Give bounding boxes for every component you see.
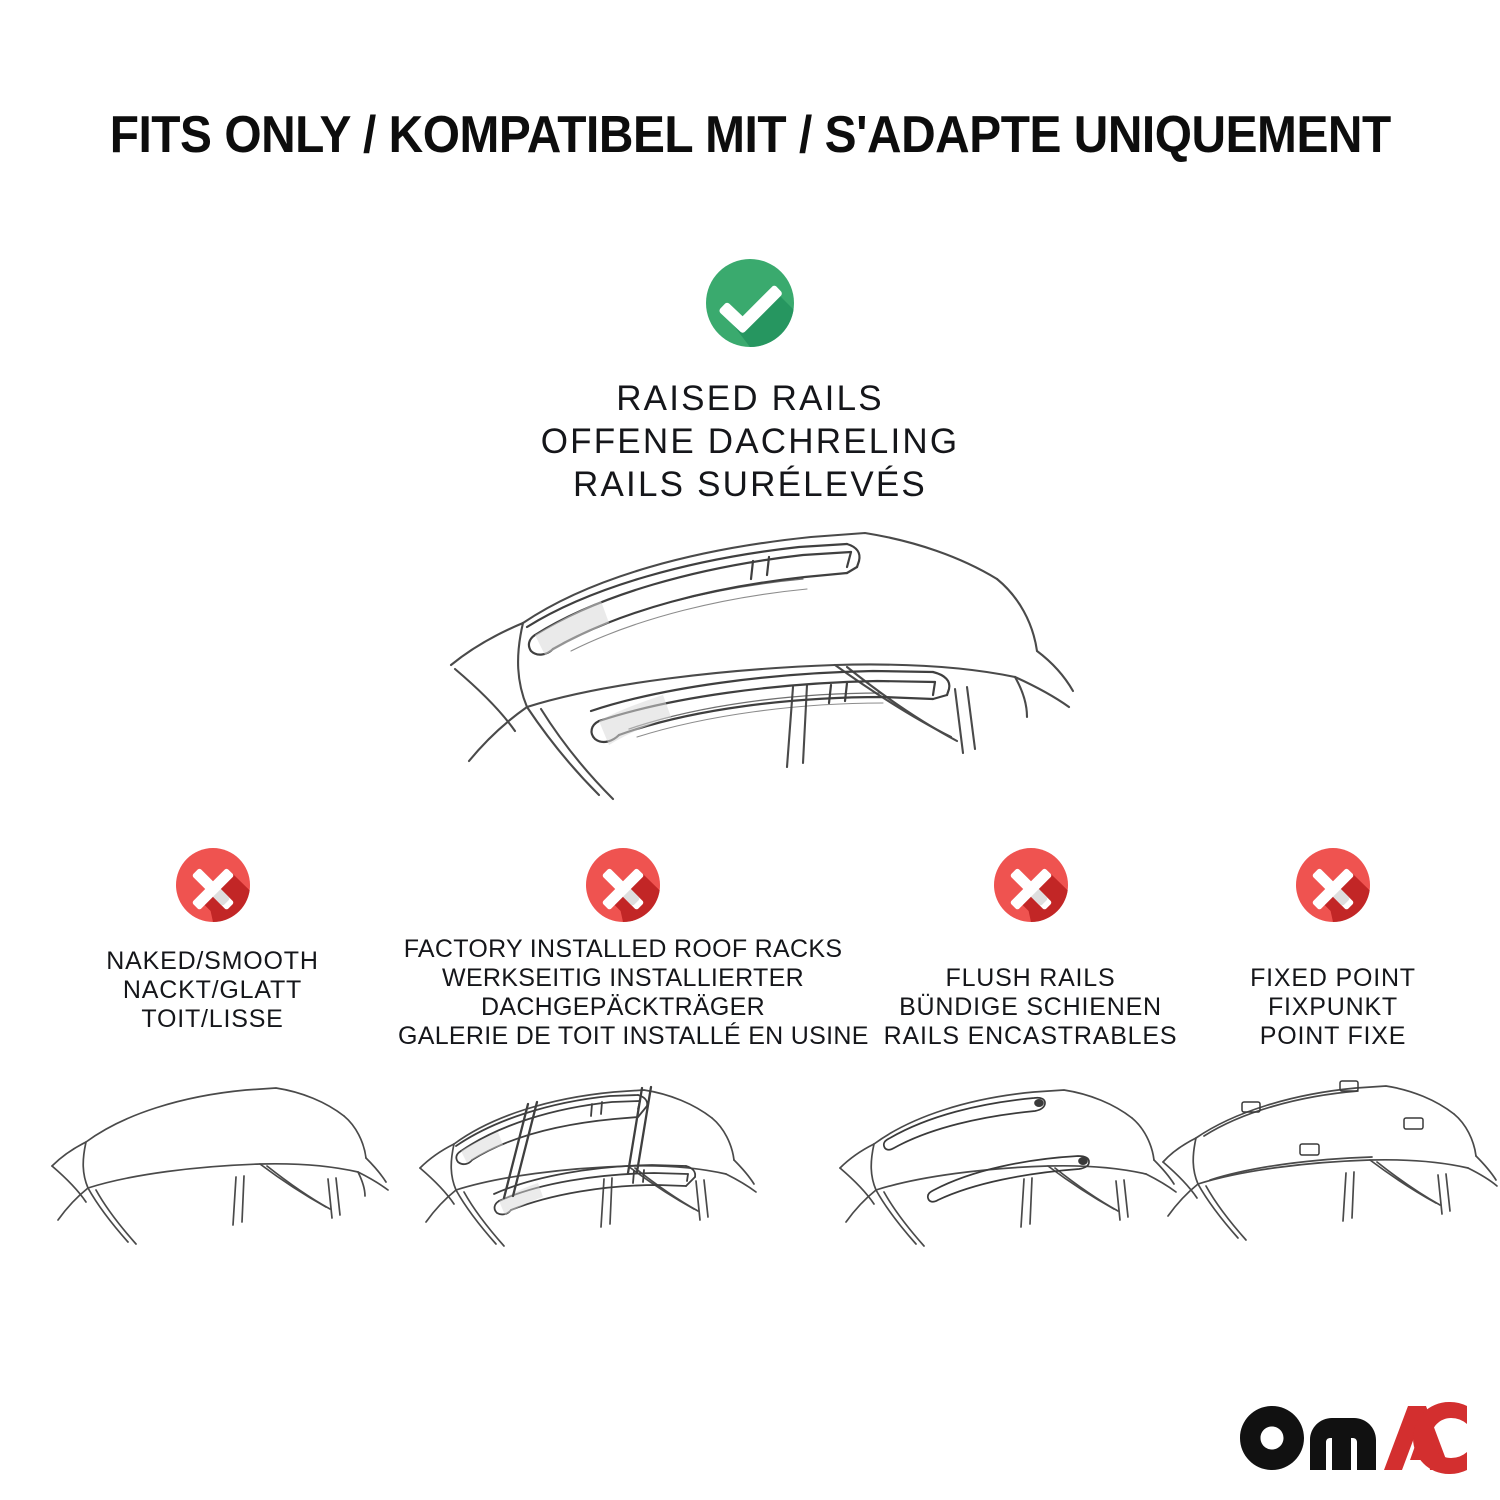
car-roof-factory-racks-illustration <box>410 1070 780 1300</box>
compatible-label-de: OFFENE DACHRELING <box>0 420 1500 463</box>
label-en: FLUSH RAILS <box>868 964 1193 993</box>
car-roof-fixed-point-illustration <box>1160 1070 1500 1300</box>
incompatible-item-factory-roof-racks: FACTORY INSTALLED ROOF RACKS WERKSEITIG … <box>398 845 848 1051</box>
incompatible-item-flush-rails: FLUSH RAILS BÜNDIGE SCHIENEN RAILS ENCAS… <box>868 845 1193 1051</box>
page-title: FITS ONLY / KOMPATIBEL MIT / S'ADAPTE UN… <box>109 105 1390 165</box>
omac-logo <box>1238 1402 1468 1474</box>
incompatible-labels-factory-roof-racks: FACTORY INSTALLED ROOF RACKS WERKSEITIG … <box>398 935 848 1051</box>
incompatible-labels-fixed-point: FIXED POINT FIXPUNKT POINT FIXE <box>1208 964 1458 1051</box>
label-de-2: DACHGEPÄCKTRÄGER <box>398 993 848 1022</box>
label-de-1: WERKSEITIG INSTALLIERTER <box>398 964 848 993</box>
incompatible-item-fixed-point: FIXED POINT FIXPUNKT POINT FIXE <box>1208 845 1458 1051</box>
label-en: FACTORY INSTALLED ROOF RACKS <box>398 935 848 964</box>
label-de: BÜNDIGE SCHIENEN <box>868 993 1193 1022</box>
x-circle-icon <box>991 845 1071 925</box>
car-roof-naked-smooth-illustration <box>48 1070 408 1300</box>
compatible-label-fr: RAILS SURÉLEVÉS <box>0 463 1500 506</box>
label-en: FIXED POINT <box>1208 964 1458 993</box>
compatible-label-en: RAISED RAILS <box>0 377 1500 420</box>
incompatible-labels-flush-rails: FLUSH RAILS BÜNDIGE SCHIENEN RAILS ENCAS… <box>868 964 1193 1051</box>
label-en: NAKED/SMOOTH <box>60 947 365 976</box>
label-de: FIXPUNKT <box>1208 993 1458 1022</box>
x-circle-icon <box>583 845 663 925</box>
label-fr: GALERIE DE TOIT INSTALLÉ EN USINE <box>398 1022 848 1051</box>
label-fr: RAILS ENCASTRABLES <box>868 1022 1193 1051</box>
label-de: NACKT/GLATT <box>60 976 365 1005</box>
car-roof-raised-rails-illustration <box>395 505 1105 835</box>
check-circle-icon <box>702 255 798 351</box>
compatible-labels: RAISED RAILS OFFENE DACHRELING RAILS SUR… <box>0 377 1500 506</box>
x-circle-icon <box>173 845 253 925</box>
page-title-bar: FITS ONLY / KOMPATIBEL MIT / S'ADAPTE UN… <box>0 105 1500 165</box>
x-circle-icon <box>1293 845 1373 925</box>
label-fr: POINT FIXE <box>1208 1022 1458 1051</box>
car-roof-flush-rails-illustration <box>830 1070 1200 1300</box>
incompatible-labels-naked-smooth: NAKED/SMOOTH NACKT/GLATT TOIT/LISSE <box>60 947 365 1034</box>
label-fr: TOIT/LISSE <box>60 1005 365 1034</box>
compatible-section: RAISED RAILS OFFENE DACHRELING RAILS SUR… <box>0 255 1500 506</box>
incompatible-item-naked-smooth: NAKED/SMOOTH NACKT/GLATT TOIT/LISSE <box>60 845 365 1034</box>
